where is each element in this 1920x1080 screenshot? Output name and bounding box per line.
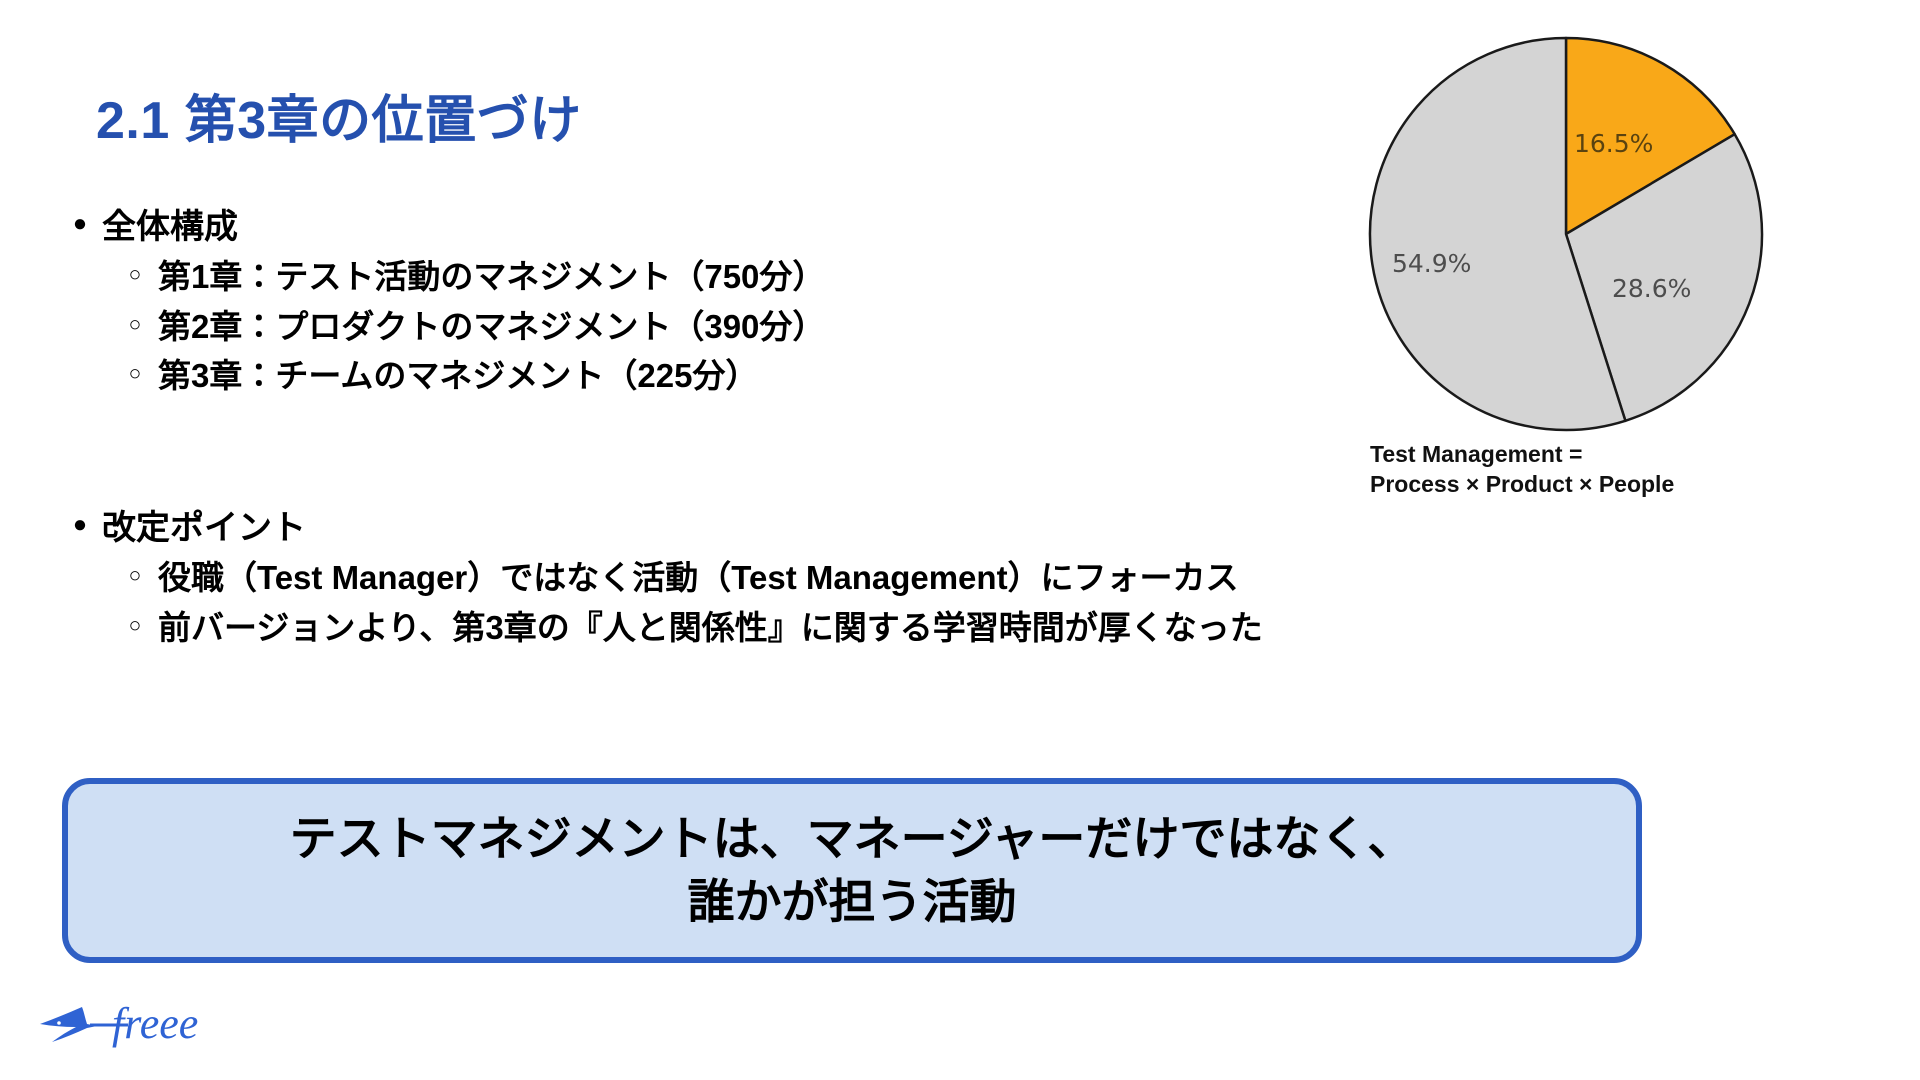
callout-line-2: 誰かが担う活動 — [688, 871, 1017, 933]
chart-caption: Test Management = Process × Product × Pe… — [1356, 440, 1776, 500]
bullet-circle-icon: ○ — [112, 354, 158, 394]
bullet-circle-icon: ○ — [112, 255, 158, 295]
callout-line-1: テストマネジメントは、マネージャーだけではなく、 — [290, 808, 1415, 870]
callout-box: テストマネジメントは、マネージャーだけではなく、 誰かが担う活動 — [62, 778, 1642, 963]
bullet-level2: ○ 前バージョンより、第3章の『人と関係性』に関する学習時間が厚くなった — [58, 606, 1138, 650]
bullet-level2-label: 第2章：プロダクトのマネジメント（390分） — [158, 305, 1138, 349]
bullet-circle-icon: ○ — [112, 606, 158, 646]
bullet-level2: ○ 第3章：チームのマネジメント（225分） — [58, 354, 1138, 398]
bullet-dot-icon: ● — [58, 506, 102, 545]
page-title: 2.1 第3章の位置づけ — [96, 78, 582, 153]
bullet-list: ● 全体構成 ○ 第1章：テスト活動のマネジメント（750分） ○ 第2章：プロ… — [58, 205, 1138, 655]
freee-logo: freee — [24, 992, 224, 1056]
chart-caption-line1: Test Management = — [1370, 440, 1776, 470]
bullet-level1: ● 全体構成 — [58, 205, 1138, 249]
bullet-dot-icon: ● — [58, 205, 102, 244]
bullet-level2: ○ 役職（Test Manager）ではなく活動（Test Management… — [58, 556, 1138, 600]
bullet-level2-label: 第3章：チームのマネジメント（225分） — [158, 354, 1138, 398]
bullet-level1: ● 改定ポイント — [58, 506, 1138, 550]
pie-slice-label-people: 16.5% — [1574, 129, 1653, 158]
bullet-level1-label: 全体構成 — [102, 205, 1138, 249]
pie-chart-svg — [1366, 34, 1766, 434]
bullet-group-overall-structure: ● 全体構成 ○ 第1章：テスト活動のマネジメント（750分） ○ 第2章：プロ… — [58, 205, 1138, 398]
freee-bird-icon: freee — [24, 993, 224, 1055]
bullet-circle-icon: ○ — [112, 556, 158, 596]
chart-caption-line2: Process × Product × People — [1370, 470, 1776, 500]
bullet-level2-label: 役職（Test Manager）ではなく活動（Test Management）に… — [158, 556, 1239, 600]
bullet-level2: ○ 第1章：テスト活動のマネジメント（750分） — [58, 255, 1138, 299]
bullet-circle-icon: ○ — [112, 305, 158, 345]
pie-slice-label-process: 54.9% — [1392, 249, 1471, 278]
freee-wordmark: freee — [112, 999, 198, 1048]
pie-slice-label-product: 28.6% — [1612, 274, 1691, 303]
bullet-level2: ○ 第2章：プロダクトのマネジメント（390分） — [58, 305, 1138, 349]
bullet-level2-label: 前バージョンより、第3章の『人と関係性』に関する学習時間が厚くなった — [158, 606, 1263, 650]
bullet-level2-label: 第1章：テスト活動のマネジメント（750分） — [158, 255, 1138, 299]
bullet-level1-label: 改定ポイント — [102, 506, 1138, 550]
pie-chart-block: 16.5% 28.6% 54.9% Test Management = Proc… — [1356, 34, 1776, 500]
bullet-group-revision-points: ● 改定ポイント ○ 役職（Test Manager）ではなく活動（Test M… — [58, 506, 1138, 649]
pie-chart: 16.5% 28.6% 54.9% — [1366, 34, 1766, 434]
